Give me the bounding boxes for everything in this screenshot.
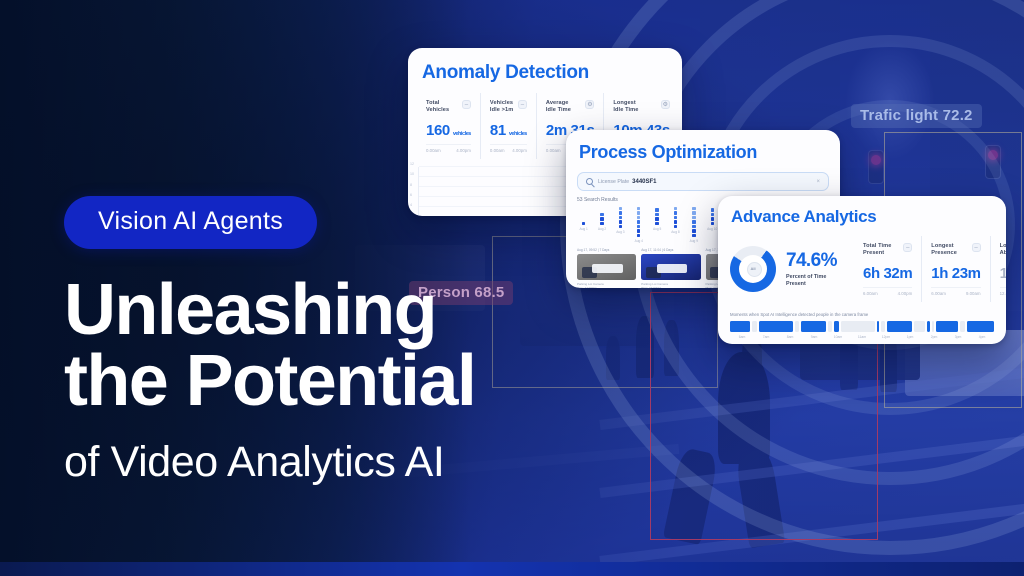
heatmap-dot — [692, 234, 695, 237]
heatmap-column-label: Aug 10 — [706, 227, 719, 231]
chart-y-tick: 4 — [410, 204, 412, 208]
heatmap-dot — [655, 208, 658, 211]
search-value: 3440SF1 — [632, 179, 656, 185]
thumbnail-card[interactable]: Aug 17, 11:04 | 6 DaysParking Lot Camera… — [641, 248, 700, 288]
minimize-icon[interactable]: – — [972, 243, 981, 252]
heatmap-column-label: Aug 5 — [650, 227, 663, 231]
thumbnail-meta: Parking Lot Camera Plate 3440SF1 — [577, 282, 636, 288]
percent-of-time-donut-chart: All — [730, 246, 776, 292]
stat-total-time-present[interactable]: Total Time Present – 6h 32m 6.00am 4.00p… — [854, 236, 922, 302]
stat-footer: 12.00pm 1.45pm — [1000, 287, 1006, 296]
stat-header: Total Time Present – — [863, 243, 912, 258]
timeline-segment-absent — [841, 321, 875, 332]
page-title: Unleashing the Potential — [64, 275, 684, 416]
heatmap-dot — [637, 234, 640, 237]
timeline-segment-present — [967, 321, 994, 332]
stat-number: 160 — [426, 122, 450, 139]
stat-foot-left: 0.00am — [426, 148, 441, 153]
presence-timeline-x-axis: 6am7am8am9am10am11am12pm1pm2pm3pm4pm — [730, 335, 994, 339]
bottom-accent-bar — [0, 562, 1024, 576]
heatmap-column-label: Aug 2 — [595, 227, 608, 231]
advance-analytics-card[interactable]: Advance Analytics All 74.6% Percent of T… — [718, 196, 1006, 344]
heatmap-dots — [706, 207, 719, 225]
timeline-x-tick: 1pm — [898, 335, 922, 339]
chart-y-tick: 8 — [410, 184, 412, 188]
vision-ai-agents-badge: Vision AI Agents — [64, 196, 317, 249]
heatmap-dots — [614, 207, 627, 228]
timeline-x-tick: 11am — [850, 335, 874, 339]
timeline-segment-absent — [881, 321, 886, 332]
heatmap-column[interactable]: Aug 4 — [632, 207, 645, 243]
stat-header: Average Idle Time ⚙ — [546, 100, 594, 115]
heatmap-dot — [711, 222, 714, 225]
process-optimization-title: Process Optimization — [566, 130, 840, 163]
timeline-x-tick: 6am — [730, 335, 754, 339]
close-icon[interactable]: × — [816, 179, 820, 185]
stat-header: Longest Idle Time ⚙ — [613, 100, 669, 115]
timeline-segment-absent — [960, 321, 965, 332]
thumbnail-caption: Aug 17, 11:04 | 6 Days — [641, 248, 700, 252]
stat-foot-right: 4.00pm — [512, 148, 527, 153]
stat-foot-left: 6.00am — [863, 291, 878, 296]
heatmap-dot — [674, 211, 677, 214]
stat-footer: 0.00am 4.00pm — [426, 144, 471, 153]
heatmap-dot — [692, 229, 695, 232]
stat-value: 1h 23m — [931, 265, 980, 282]
heatmap-dot — [655, 213, 658, 216]
timeline-segment-present — [927, 321, 929, 332]
stat-longest-presence[interactable]: Longest Presence – 1h 23m 6.00am 9.00am — [922, 236, 990, 302]
heatmap-dot — [600, 213, 603, 216]
heatmap-dot — [619, 220, 622, 223]
heatmap-dot — [711, 208, 714, 211]
heatmap-column-label: Aug 8 — [669, 230, 682, 234]
percent-label: Percent of Time Present — [786, 274, 844, 289]
heatmap-column-label: Aug 3 — [614, 230, 627, 234]
stat-foot-left: 12.00pm — [1000, 291, 1006, 296]
heatmap-column-label: Aug 1 — [577, 227, 590, 231]
timeline-segment-present — [936, 321, 959, 332]
stat-footer: 6.00am 4.00pm — [863, 287, 912, 296]
heatmap-dot — [655, 222, 658, 225]
heatmap-dot — [637, 220, 640, 223]
heatmap-dot — [692, 216, 695, 219]
analytics-stat-row: Total Time Present – 6h 32m 6.00am 4.00p… — [854, 236, 1006, 302]
timeline-x-tick: 9am — [802, 335, 826, 339]
timeline-caption: Moments when Spot AI Intelligence detect… — [730, 312, 994, 317]
percent-value: 74.6% — [786, 250, 844, 272]
license-plate-search-input[interactable]: License Plate3440SF1 × — [577, 172, 829, 191]
stat-value: 160vehicles — [426, 122, 471, 139]
timeline-segment-present — [730, 321, 750, 332]
thumbnail-vehicle — [657, 264, 688, 273]
stat-vehicles-idle[interactable]: Vehicles Idle >1m – 81vehicles 0.00am 4.… — [481, 93, 537, 159]
anomaly-detection-title: Anomaly Detection — [408, 48, 682, 84]
heatmap-dot — [600, 222, 603, 225]
heatmap-dot — [674, 225, 677, 228]
stat-unit: vehicles — [453, 131, 471, 137]
stat-unit: vehicles — [509, 131, 527, 137]
timeline-x-tick: 2pm — [922, 335, 946, 339]
thumbnail-meta: Parking Lot Camera Plate 3440SF1 — [641, 282, 700, 288]
stat-header: Longest Presence – — [931, 243, 980, 258]
minimize-icon[interactable]: – — [462, 100, 471, 109]
heatmap-column[interactable]: Aug 9 — [687, 207, 700, 243]
timeline-segment-present — [801, 321, 826, 332]
headline-line-2: the Potential — [64, 346, 684, 417]
stat-label: Total Time Present — [863, 243, 891, 258]
stat-header: Vehicles Idle >1m – — [490, 100, 527, 115]
analytics-summary-row: All 74.6% Percent of Time Present Total … — [730, 236, 994, 302]
heatmap-dot — [637, 216, 640, 219]
chart-y-tick: 6 — [410, 194, 412, 198]
heatmap-column[interactable]: Aug 2 — [595, 207, 608, 243]
stat-foot-left: 6.00am — [931, 291, 946, 296]
thumbnail-image — [641, 254, 700, 280]
stat-label: Total Vehicles — [426, 100, 449, 115]
heatmap-dot — [637, 225, 640, 228]
heatmap-dot — [692, 225, 695, 228]
heatmap-dot — [637, 207, 640, 210]
heatmap-dots — [595, 207, 608, 225]
timeline-x-tick: 4pm — [970, 335, 994, 339]
heatmap-column-label: Aug 9 — [687, 239, 700, 243]
gear-icon[interactable]: ⚙ — [585, 100, 594, 109]
timeline-segment-present — [877, 321, 879, 332]
heatmap-dot — [619, 211, 622, 214]
headline-line-1: Unleashing — [64, 270, 436, 350]
presence-timeline — [730, 321, 994, 332]
stat-header: Total Vehicles – — [426, 100, 471, 115]
stat-label: Longest Absence — [1000, 243, 1006, 258]
heatmap-column-label: Aug 4 — [632, 239, 645, 243]
timeline-segment-absent — [932, 321, 934, 332]
timeline-x-tick: 8am — [778, 335, 802, 339]
timeline-segment-present — [759, 321, 793, 332]
stat-foot-right: 9.00am — [966, 291, 981, 296]
heatmap-dots — [669, 207, 682, 228]
stat-foot-right: 4.00pm — [898, 291, 913, 296]
heatmap-dot — [619, 216, 622, 219]
search-icon — [586, 178, 593, 185]
stat-label: Vehicles Idle >1m — [490, 100, 513, 115]
stat-footer: 0.00am 4.00pm — [490, 144, 527, 153]
heatmap-dots — [650, 207, 663, 225]
detection-label-traffic-light: Trafic light 72.2 — [851, 104, 982, 128]
thumbnail-caption: Aug 17, 09:52 | 7 Days — [577, 248, 636, 252]
heatmap-dot — [674, 216, 677, 219]
heatmap-dot — [637, 229, 640, 232]
heatmap-dot — [600, 217, 603, 220]
chart-y-tick: 12 — [410, 163, 414, 167]
chart-y-tick: 2 — [410, 214, 412, 216]
stat-number: 81 — [490, 122, 506, 139]
timeline-segment-absent — [828, 321, 833, 332]
stat-foot-right: 4.00pm — [456, 148, 471, 153]
heatmap-dot — [582, 222, 585, 225]
hero-banner: Trafic light 72.2 Person 68.5 Vision AI … — [0, 0, 1024, 576]
timeline-x-tick: 7am — [754, 335, 778, 339]
stat-footer: 6.00am 9.00am — [931, 287, 980, 296]
heatmap-column[interactable]: Aug 3 — [614, 207, 627, 243]
heatmap-dots — [632, 207, 645, 237]
heatmap-dot — [692, 211, 695, 214]
heatmap-dot — [674, 220, 677, 223]
timeline-segment-absent — [795, 321, 800, 332]
heatmap-column[interactable]: Aug 10 — [706, 207, 719, 243]
timeline-segment-absent — [914, 321, 925, 332]
timeline-segment-absent — [752, 321, 757, 332]
stat-total-vehicles[interactable]: Total Vehicles – 160vehicles 0.00am 4.00… — [417, 93, 481, 159]
stat-value: 1h 51m — [1000, 265, 1006, 282]
stat-foot-left: 0.00am — [546, 148, 561, 153]
timeline-x-tick: 12pm — [874, 335, 898, 339]
minimize-icon[interactable]: – — [903, 243, 912, 252]
stat-longest-absence[interactable]: Longest Absence ✓ 1h 51m 12.00pm 1.45pm — [991, 236, 1006, 302]
stat-value: 6h 32m — [863, 265, 912, 282]
heatmap-dot — [674, 207, 677, 210]
heatmap-dot — [637, 211, 640, 214]
timeline-segment-present — [834, 321, 839, 332]
stat-label: Longest Idle Time — [613, 100, 638, 115]
heatmap-dot — [655, 217, 658, 220]
thumbnail-image — [577, 254, 636, 280]
heatmap-column[interactable]: Aug 5 — [650, 207, 663, 243]
chart-y-tick: 10 — [410, 173, 414, 177]
heatmap-dot — [619, 207, 622, 210]
heatmap-dot — [711, 213, 714, 216]
heatmap-dot — [692, 207, 695, 210]
heatmap-dots — [577, 207, 590, 225]
heatmap-dots — [687, 207, 700, 237]
thumbnail-card[interactable]: Aug 17, 09:52 | 7 DaysParking Lot Camera… — [577, 248, 636, 288]
timeline-x-tick: 10am — [826, 335, 850, 339]
search-label: License Plate — [598, 179, 629, 185]
stat-value: 81vehicles — [490, 122, 527, 139]
heatmap-dot — [711, 217, 714, 220]
stat-header: Longest Absence ✓ — [1000, 243, 1006, 258]
percent-block: 74.6% Percent of Time Present — [786, 250, 844, 289]
stat-label: Average Idle Time — [546, 100, 571, 115]
search-placeholder: License Plate3440SF1 — [598, 179, 657, 185]
heatmap-dot — [692, 220, 695, 223]
minimize-icon[interactable]: – — [518, 100, 527, 109]
stat-label: Longest Presence — [931, 243, 957, 258]
heatmap-column[interactable]: Aug 8 — [669, 207, 682, 243]
gear-icon[interactable]: ⚙ — [661, 100, 670, 109]
donut-center-label: All — [730, 246, 776, 292]
timeline-segment-present — [887, 321, 912, 332]
timeline-x-tick: 3pm — [946, 335, 970, 339]
page-subtitle: of Video Analytics AI — [64, 438, 684, 487]
advance-analytics-title: Advance Analytics — [718, 196, 1006, 227]
thumbnail-vehicle — [592, 264, 623, 273]
stat-foot-left: 0.00am — [490, 148, 505, 153]
heatmap-dot — [619, 225, 622, 228]
heatmap-column[interactable]: Aug 1 — [577, 207, 590, 243]
